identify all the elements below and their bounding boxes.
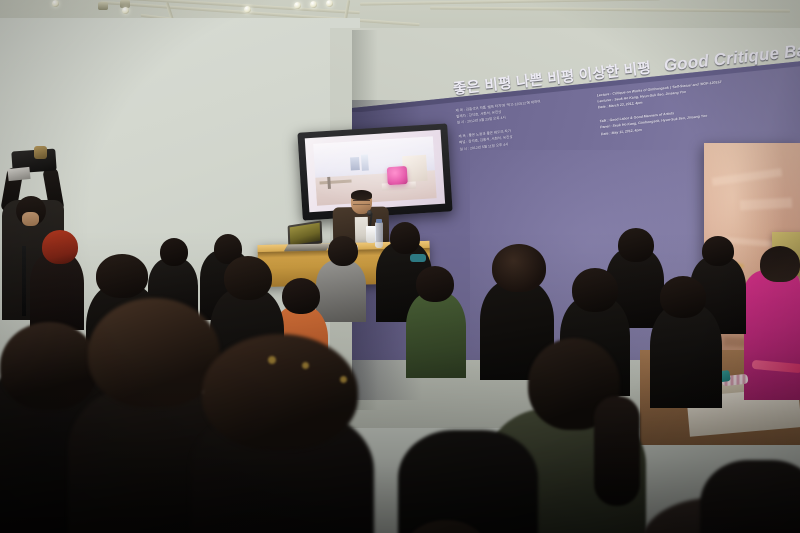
teal-scarf <box>410 254 426 262</box>
ceiling-spotlight <box>244 6 251 13</box>
audience-member-head <box>572 268 618 312</box>
wall-text-english-column: Lecture : Critique on Works of Gimhongso… <box>597 75 771 136</box>
hair-clip <box>340 376 347 383</box>
gallery-lecture-photograph: 좋은 비평 나쁜 비평 이상한 비평 Good Critique Bad Cri… <box>0 0 800 533</box>
videographer-face <box>22 212 39 226</box>
audience-member-grey-shirt <box>316 260 366 322</box>
korean-event-block-1: 제 목 : 김홍석의 작품 '셀프 타자'와 '먹고-120512'에 대하여 … <box>455 96 576 126</box>
audience-member-head <box>416 266 454 302</box>
camcorder-flip-screen <box>7 167 30 181</box>
camera-lens-icon <box>34 146 47 159</box>
audience-member-head <box>660 276 706 318</box>
bottle-cap <box>376 219 382 223</box>
ceiling-spotlight <box>310 1 317 8</box>
audience-member-head <box>96 254 148 298</box>
audience-member-head-curly <box>492 244 546 292</box>
track-light-housing <box>98 2 108 10</box>
audience-member-head <box>390 222 420 254</box>
audience-member-head <box>282 278 320 314</box>
lecturer-hair <box>351 190 372 200</box>
audience-member-head <box>88 298 220 408</box>
ceiling-spotlight <box>326 0 333 7</box>
audience-member-head <box>224 256 272 300</box>
audience-member-head-red <box>42 230 78 264</box>
ceiling-spotlight <box>294 2 301 9</box>
hair-clip <box>268 356 276 364</box>
audience-member-foreground <box>700 460 800 533</box>
audience-member-head <box>618 228 654 262</box>
microphone <box>367 210 372 216</box>
screen-glare <box>305 130 445 212</box>
audience-member-head <box>202 334 358 450</box>
projection-screen-display <box>305 130 445 212</box>
audience-member-head <box>702 236 734 266</box>
hair-clip <box>302 362 309 369</box>
audience-member-foreground <box>398 430 538 533</box>
audience-member-green-sweater <box>406 292 466 378</box>
audience-member-head <box>160 238 188 266</box>
audience-member <box>650 304 722 408</box>
audience-member-head <box>0 322 98 410</box>
ponytail <box>594 396 640 506</box>
korean-event-block-2: 제 목 : 좋은 노동과 좋은 태도의 작가 패널 : 강석호, 김홍석, 서현… <box>458 122 579 152</box>
wall-text-korean-column: 제 목 : 김홍석의 작품 '셀프 타자'와 '먹고-120512'에 대하여 … <box>455 96 579 152</box>
seated-audience <box>0 230 800 533</box>
eyeglasses <box>353 200 370 205</box>
ceiling-spotlight <box>122 7 129 14</box>
audience-member-head <box>328 236 358 266</box>
ceiling-spotlight <box>52 0 59 7</box>
